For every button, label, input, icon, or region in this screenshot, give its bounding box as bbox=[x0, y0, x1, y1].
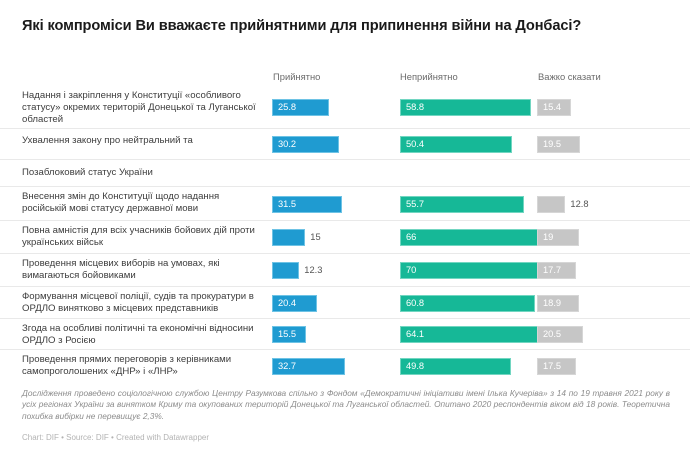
bar-value-hard: 19.5 bbox=[538, 140, 561, 149]
bar-fill-reject: 55.7 bbox=[400, 196, 524, 213]
bar-accept: 30.2 bbox=[272, 136, 339, 153]
bar-fill-hard: 17.7 bbox=[537, 262, 576, 279]
bar-fill-reject: 60.8 bbox=[400, 295, 535, 312]
bar-value-accept: 25.8 bbox=[273, 103, 296, 112]
bar-reject: 70 bbox=[400, 262, 555, 279]
page-title: Які компроміси Ви вважаєте прийнятними д… bbox=[22, 17, 642, 36]
bar-fill-reject: 64.1 bbox=[400, 326, 542, 343]
bar-reject: 66 bbox=[400, 229, 547, 246]
bar-reject: 50.4 bbox=[400, 136, 512, 153]
bar-fill-hard: 17.5 bbox=[537, 358, 576, 375]
bar-value-hard: 15.4 bbox=[538, 103, 561, 112]
credit-line: Chart: DIF • Source: DIF • Created with … bbox=[22, 433, 209, 442]
bar-value-reject: 58.8 bbox=[401, 103, 424, 112]
chart-page: Які компроміси Ви вважаєте прийнятними д… bbox=[0, 0, 690, 461]
bar-hard: 19.5 bbox=[537, 136, 580, 153]
bar-fill-accept: 15.5 bbox=[272, 326, 306, 343]
bar-fill-reject: 70 bbox=[400, 262, 555, 279]
bar-value-hard: 18.9 bbox=[538, 299, 561, 308]
bar-accept: 31.5 bbox=[272, 196, 342, 213]
chart-row: Згода на особливі політичні та економічн… bbox=[0, 318, 690, 349]
bar-value-reject: 60.8 bbox=[401, 299, 424, 308]
bar-fill-accept: 20.4 bbox=[272, 295, 317, 312]
bar-hard: 12.8 bbox=[537, 196, 589, 213]
bar-value-reject: 50.4 bbox=[401, 140, 424, 149]
bar-value-reject: 64.1 bbox=[401, 330, 424, 339]
bar-fill-accept bbox=[272, 262, 299, 279]
bar-accept: 15.5 bbox=[272, 326, 306, 343]
bar-accept: 12.3 bbox=[272, 262, 322, 279]
chart-body: Надання і закріплення у Конституції «осо… bbox=[0, 86, 690, 381]
bar-value-accept: 15 bbox=[305, 233, 320, 242]
bar-accept: 32.7 bbox=[272, 358, 345, 375]
bar-value-hard: 19 bbox=[538, 233, 553, 242]
bar-value-accept: 12.3 bbox=[299, 266, 322, 275]
bar-reject: 60.8 bbox=[400, 295, 535, 312]
bar-reject: 49.8 bbox=[400, 358, 511, 375]
bar-value-reject: 49.8 bbox=[401, 362, 424, 371]
bar-reject: 55.7 bbox=[400, 196, 524, 213]
bar-accept: 20.4 bbox=[272, 295, 317, 312]
bar-value-accept: 32.7 bbox=[273, 362, 296, 371]
bar-fill-reject: 58.8 bbox=[400, 99, 531, 116]
bar-fill-hard: 19 bbox=[537, 229, 579, 246]
bar-fill-hard bbox=[537, 196, 565, 213]
row-label-continuation: Позаблоковий статус України bbox=[22, 167, 272, 179]
chart-row: Повна амністія для всіх учасників бойови… bbox=[0, 220, 690, 253]
bar-hard: 17.5 bbox=[537, 358, 576, 375]
bar-value-accept: 30.2 bbox=[273, 140, 296, 149]
row-bars: 31.555.712.8 bbox=[0, 187, 690, 220]
bar-fill-reject: 50.4 bbox=[400, 136, 512, 153]
bar-fill-accept: 25.8 bbox=[272, 99, 329, 116]
bar-fill-accept bbox=[272, 229, 305, 246]
bar-hard: 18.9 bbox=[537, 295, 579, 312]
chart-row: Внесення змін до Конституції щодо наданн… bbox=[0, 186, 690, 220]
chart-row: Надання і закріплення у Конституції «осо… bbox=[0, 86, 690, 128]
column-header-reject: Неприйнятно bbox=[400, 71, 458, 82]
bar-fill-hard: 19.5 bbox=[537, 136, 580, 153]
bar-accept: 15 bbox=[272, 229, 321, 246]
row-bars: 30.250.419.5 bbox=[0, 129, 690, 159]
bar-reject: 58.8 bbox=[400, 99, 531, 116]
bar-value-accept: 15.5 bbox=[273, 330, 296, 339]
row-bars: 156619 bbox=[0, 221, 690, 253]
bar-hard: 15.4 bbox=[537, 99, 571, 116]
row-bars: 15.564.120.5 bbox=[0, 319, 690, 349]
bar-fill-hard: 15.4 bbox=[537, 99, 571, 116]
bar-fill-accept: 30.2 bbox=[272, 136, 339, 153]
chart-row: Формування місцевої поліції, судів та пр… bbox=[0, 286, 690, 318]
bar-value-hard: 17.7 bbox=[538, 266, 561, 275]
bar-value-accept: 31.5 bbox=[273, 200, 296, 209]
bar-value-hard: 20.5 bbox=[538, 330, 561, 339]
chart-row: Проведення прямих переговорів з керівник… bbox=[0, 349, 690, 381]
bar-fill-accept: 32.7 bbox=[272, 358, 345, 375]
chart-row-note: Позаблоковий статус України bbox=[0, 159, 690, 186]
row-bars: 32.749.817.5 bbox=[0, 350, 690, 381]
bar-value-hard: 12.8 bbox=[565, 200, 588, 209]
bar-hard: 17.7 bbox=[537, 262, 576, 279]
row-bars: 12.37017.7 bbox=[0, 254, 690, 286]
column-header-hard: Важко сказати bbox=[538, 71, 601, 82]
bar-hard: 19 bbox=[537, 229, 579, 246]
column-header-accept: Прийнятно bbox=[273, 71, 320, 82]
bar-reject: 64.1 bbox=[400, 326, 542, 343]
bar-value-reject: 55.7 bbox=[401, 200, 424, 209]
bar-value-reject: 70 bbox=[401, 266, 416, 275]
bar-hard: 20.5 bbox=[537, 326, 583, 343]
row-bars: 25.858.815.4 bbox=[0, 86, 690, 128]
bar-fill-hard: 18.9 bbox=[537, 295, 579, 312]
chart-row: Ухвалення закону про нейтральний та30.25… bbox=[0, 128, 690, 159]
footnote: Дослідження проведено соціологічною служ… bbox=[22, 388, 670, 422]
chart-row: Проведення місцевих виборів на умовах, я… bbox=[0, 253, 690, 286]
bar-fill-hard: 20.5 bbox=[537, 326, 583, 343]
bar-fill-reject: 66 bbox=[400, 229, 547, 246]
bar-value-reject: 66 bbox=[401, 233, 416, 242]
bar-fill-reject: 49.8 bbox=[400, 358, 511, 375]
bar-accept: 25.8 bbox=[272, 99, 329, 116]
row-bars: 20.460.818.9 bbox=[0, 287, 690, 318]
bar-value-accept: 20.4 bbox=[273, 299, 296, 308]
bar-value-hard: 17.5 bbox=[538, 362, 561, 371]
bar-fill-accept: 31.5 bbox=[272, 196, 342, 213]
